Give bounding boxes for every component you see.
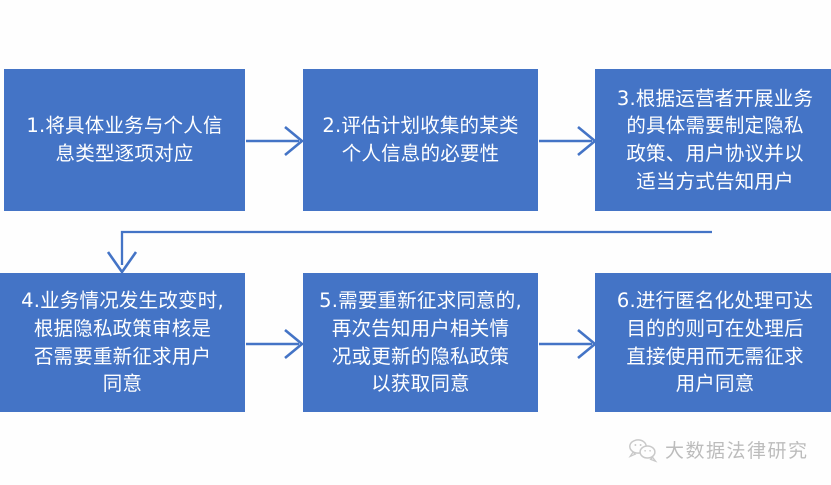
connector-arrow-4-to-5 [246, 323, 306, 365]
watermark: 大数据法律研究 [628, 436, 809, 463]
process-box-4-label: 4.业务情况发生改变时, 根据隐私政策审核是 否需要重新征求用户 同意 [21, 287, 224, 398]
process-box-6-label: 6.进行匿名化处理可达 目的的则可在处理后 直接使用而无需征求 用户同意 [617, 287, 813, 398]
process-box-3[interactable]: 3.根据运营者开展业务 的具体需要制定隐私 政策、用户协议并以 适当方式告知用户 [595, 69, 831, 211]
process-box-5[interactable]: 5.需要重新征求同意的, 再次告知用户相关情 况或更新的隐私政策 以获取同意 [303, 273, 538, 412]
connector-arrow-5-to-6 [539, 323, 599, 365]
connector-arrow-1-to-2 [246, 120, 306, 162]
watermark-label: 大数据法律研究 [665, 436, 809, 463]
process-box-5-label: 5.需要重新征求同意的, 再次告知用户相关情 况或更新的隐私政策 以获取同意 [319, 287, 522, 398]
wechat-bubbles-icon [628, 437, 658, 463]
connector-arrow-3-to-4 [110, 208, 720, 278]
process-box-1-label: 1.将具体业务与个人信 息类型逐项对应 [26, 112, 222, 167]
process-box-2[interactable]: 2.评估计划收集的某类 个人信息的必要性 [303, 69, 538, 211]
flowchart-canvas: 1.将具体业务与个人信 息类型逐项对应 2.评估计划收集的某类 个人信息的必要性… [0, 0, 831, 485]
process-box-3-label: 3.根据运营者开展业务 的具体需要制定隐私 政策、用户协议并以 适当方式告知用户 [617, 85, 813, 196]
process-box-1[interactable]: 1.将具体业务与个人信 息类型逐项对应 [4, 69, 245, 211]
connector-arrow-2-to-3 [539, 120, 599, 162]
process-box-6[interactable]: 6.进行匿名化处理可达 目的的则可在处理后 直接使用而无需征求 用户同意 [595, 273, 831, 412]
process-box-4[interactable]: 4.业务情况发生改变时, 根据隐私政策审核是 否需要重新征求用户 同意 [0, 273, 245, 412]
process-box-2-label: 2.评估计划收集的某类 个人信息的必要性 [322, 112, 518, 167]
